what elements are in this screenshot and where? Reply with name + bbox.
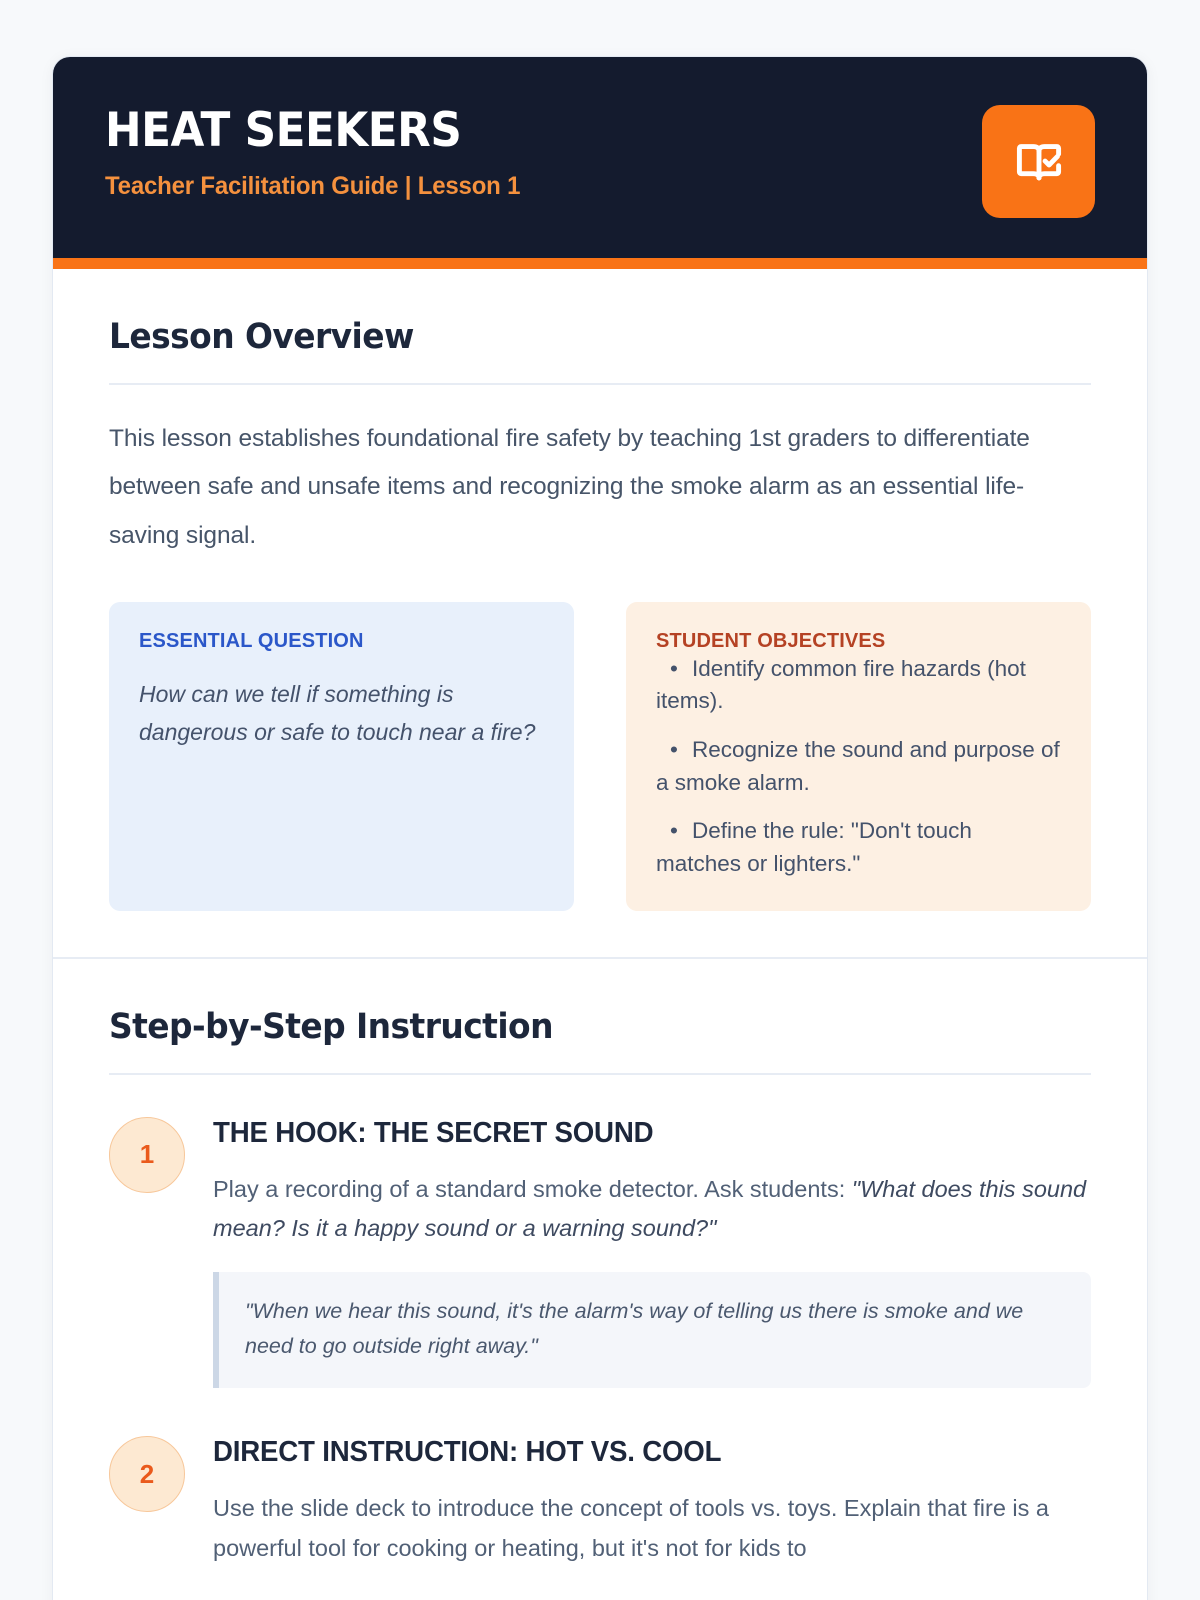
section-divider: [109, 1073, 1091, 1075]
document-header: HEAT SEEKERS Teacher Facilitation Guide …: [53, 57, 1147, 258]
student-objectives-label: STUDENT OBJECTIVES: [656, 630, 1061, 653]
objective-item: Identify common fire hazards (hot items)…: [656, 653, 1061, 718]
step-body: Use the slide deck to introduce the conc…: [213, 1489, 1091, 1568]
page-title: HEAT SEEKERS: [105, 107, 507, 154]
essential-question-text: How can we tell if something is dangerou…: [139, 675, 544, 752]
step-content: THE HOOK: THE SECRET SOUNDPlay a recordi…: [213, 1111, 1091, 1389]
page-root: HEAT SEEKERS Teacher Facilitation Guide …: [0, 0, 1200, 1600]
step-body: Play a recording of a standard smoke det…: [213, 1170, 1091, 1249]
header-accent-bar: [53, 258, 1147, 269]
essential-question-label: ESSENTIAL QUESTION: [139, 630, 544, 653]
step-content: DIRECT INSTRUCTION: HOT VS. COOLUse the …: [213, 1430, 1091, 1568]
lesson-overview-section: Lesson Overview This lesson establishes …: [53, 269, 1147, 957]
instruction-step: 1THE HOOK: THE SECRET SOUNDPlay a record…: [109, 1111, 1091, 1389]
page-subtitle: Teacher Facilitation Guide | Lesson 1: [105, 172, 520, 201]
step-title: THE HOOK: THE SECRET SOUND: [213, 1117, 1065, 1150]
step-by-step-heading: Step-by-Step Instruction: [109, 1007, 1032, 1047]
step-title: DIRECT INSTRUCTION: HOT VS. COOL: [213, 1436, 1065, 1469]
book-check-icon: [982, 105, 1095, 218]
step-by-step-section: Step-by-Step Instruction 1THE HOOK: THE …: [53, 957, 1147, 1600]
section-divider: [109, 383, 1091, 385]
lesson-guide-card: HEAT SEEKERS Teacher Facilitation Guide …: [52, 56, 1148, 1600]
steps-list: 1THE HOOK: THE SECRET SOUNDPlay a record…: [109, 1111, 1091, 1569]
callout-row: ESSENTIAL QUESTION How can we tell if so…: [109, 602, 1091, 911]
step-body-plain: Play a recording of a standard smoke det…: [213, 1176, 852, 1202]
step-number-badge: 1: [109, 1117, 185, 1193]
objective-item: Recognize the sound and purpose of a smo…: [656, 734, 1061, 799]
student-objectives-card: STUDENT OBJECTIVES Identify common fire …: [626, 602, 1091, 911]
lesson-overview-paragraph: This lesson establishes foundational fir…: [109, 415, 1091, 560]
instruction-step: 2DIRECT INSTRUCTION: HOT VS. COOLUse the…: [109, 1430, 1091, 1568]
step-teacher-script: "When we hear this sound, it's the alarm…: [213, 1272, 1091, 1388]
objective-item: Define the rule: "Don't touch matches or…: [656, 815, 1061, 880]
student-objectives-list: Identify common fire hazards (hot items)…: [656, 653, 1061, 881]
essential-question-card: ESSENTIAL QUESTION How can we tell if so…: [109, 602, 574, 911]
lesson-overview-heading: Lesson Overview: [109, 317, 1032, 357]
step-body-plain: Use the slide deck to introduce the conc…: [213, 1495, 1049, 1560]
header-text-group: HEAT SEEKERS Teacher Facilitation Guide …: [105, 101, 538, 201]
step-number-badge: 2: [109, 1436, 185, 1512]
